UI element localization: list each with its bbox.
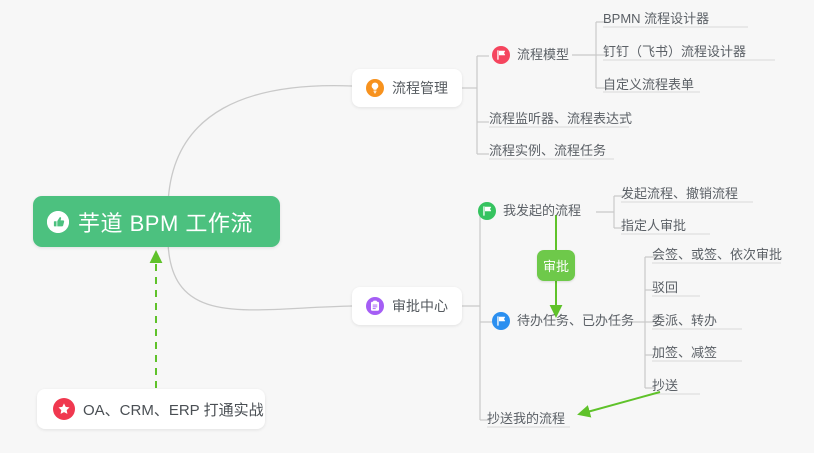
node-cc-to-me[interactable]: 抄送我的流程 [487,411,565,430]
flag-icon [492,46,510,64]
node-reject[interactable]: 驳回 [652,280,678,299]
node-my-initiated-processes[interactable]: 我发起的流程 [478,202,581,223]
thumbs-up-icon [47,211,69,233]
approval-badge-label: 审批 [543,256,569,275]
branch-node-process-management[interactable]: 流程管理 [352,69,462,107]
branch-node-approval-center[interactable]: 审批中心 [352,287,462,325]
node-add-remove-sign[interactable]: 加签、减签 [652,345,717,364]
node-label: 我发起的流程 [503,203,581,219]
flag-icon [492,312,510,330]
node-delegate-transfer[interactable]: 委派、转办 [652,313,717,332]
node-todo-done-tasks[interactable]: 待办任务、已办任务 [492,312,634,333]
node-assignee-approval[interactable]: 指定人审批 [621,218,686,237]
node-process-model[interactable]: 流程模型 [492,46,569,67]
mindmap-canvas: 芋道 BPM 工作流 流程管理 流程模型 BPMN 流程设计器 钉钉（飞书）流程… [0,0,814,453]
clipboard-icon [366,297,384,315]
branch-label: 审批中心 [392,296,448,316]
node-label: 待办任务、已办任务 [517,313,634,329]
node-label: 流程模型 [517,47,569,63]
node-process-listener[interactable]: 流程监听器、流程表达式 [489,111,632,130]
node-countersign[interactable]: 会签、或签、依次审批 [652,247,782,266]
star-icon [53,398,75,420]
node-label: OA、CRM、ERP 打通实战 [83,399,264,420]
node-process-instance[interactable]: 流程实例、流程任务 [489,143,606,162]
root-node[interactable]: 芋道 BPM 工作流 [33,196,280,247]
flag-icon [478,202,496,220]
node-dingtalk-designer[interactable]: 钉钉（飞书）流程设计器 [603,44,746,63]
node-custom-form[interactable]: 自定义流程表单 [603,77,694,96]
node-start-cancel-process[interactable]: 发起流程、撤销流程 [621,186,738,205]
branch-label: 流程管理 [392,78,448,98]
root-label: 芋道 BPM 工作流 [78,206,253,238]
approval-badge[interactable]: 审批 [537,250,575,281]
node-integration-practice[interactable]: OA、CRM、ERP 打通实战 [37,389,265,429]
node-cc[interactable]: 抄送 [652,378,678,397]
lightbulb-icon [366,79,384,97]
node-bpmn-designer[interactable]: BPMN 流程设计器 [603,11,709,30]
